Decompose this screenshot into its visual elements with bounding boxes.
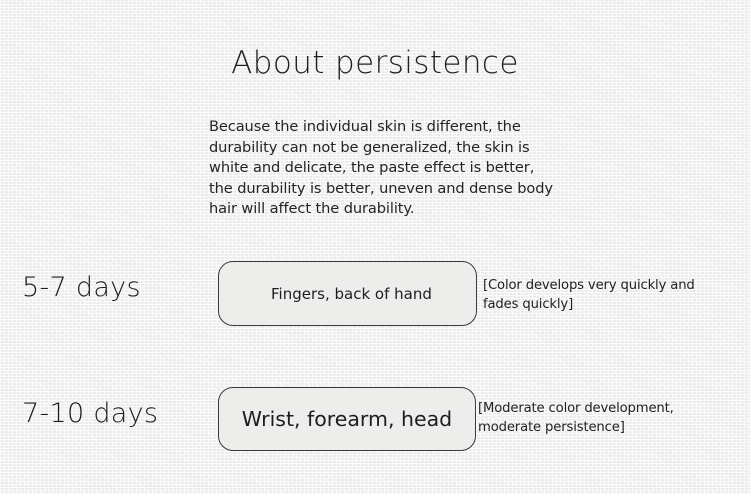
area-pill-fingers-back-of-hand[interactable]: Fingers, back of hand — [218, 261, 477, 326]
area-pill-wrist-forearm-head[interactable]: Wrist, forearm, head — [218, 387, 476, 451]
area-pill-label: Wrist, forearm, head — [219, 406, 475, 432]
persistence-note-5-7-days: [Color develops very quickly and fades q… — [483, 277, 698, 314]
duration-label-5-7-days: 5-7 days — [22, 272, 141, 303]
page-title: About persistence — [0, 45, 750, 81]
page-canvas: About persistence Because the individual… — [0, 0, 750, 494]
intro-paragraph: Because the individual skin is different… — [209, 117, 561, 220]
duration-label-7-10-days: 7-10 days — [22, 398, 158, 429]
persistence-note-7-10-days: [Moderate color development, moderate pe… — [478, 400, 703, 437]
area-pill-label: Fingers, back of hand — [219, 284, 476, 304]
